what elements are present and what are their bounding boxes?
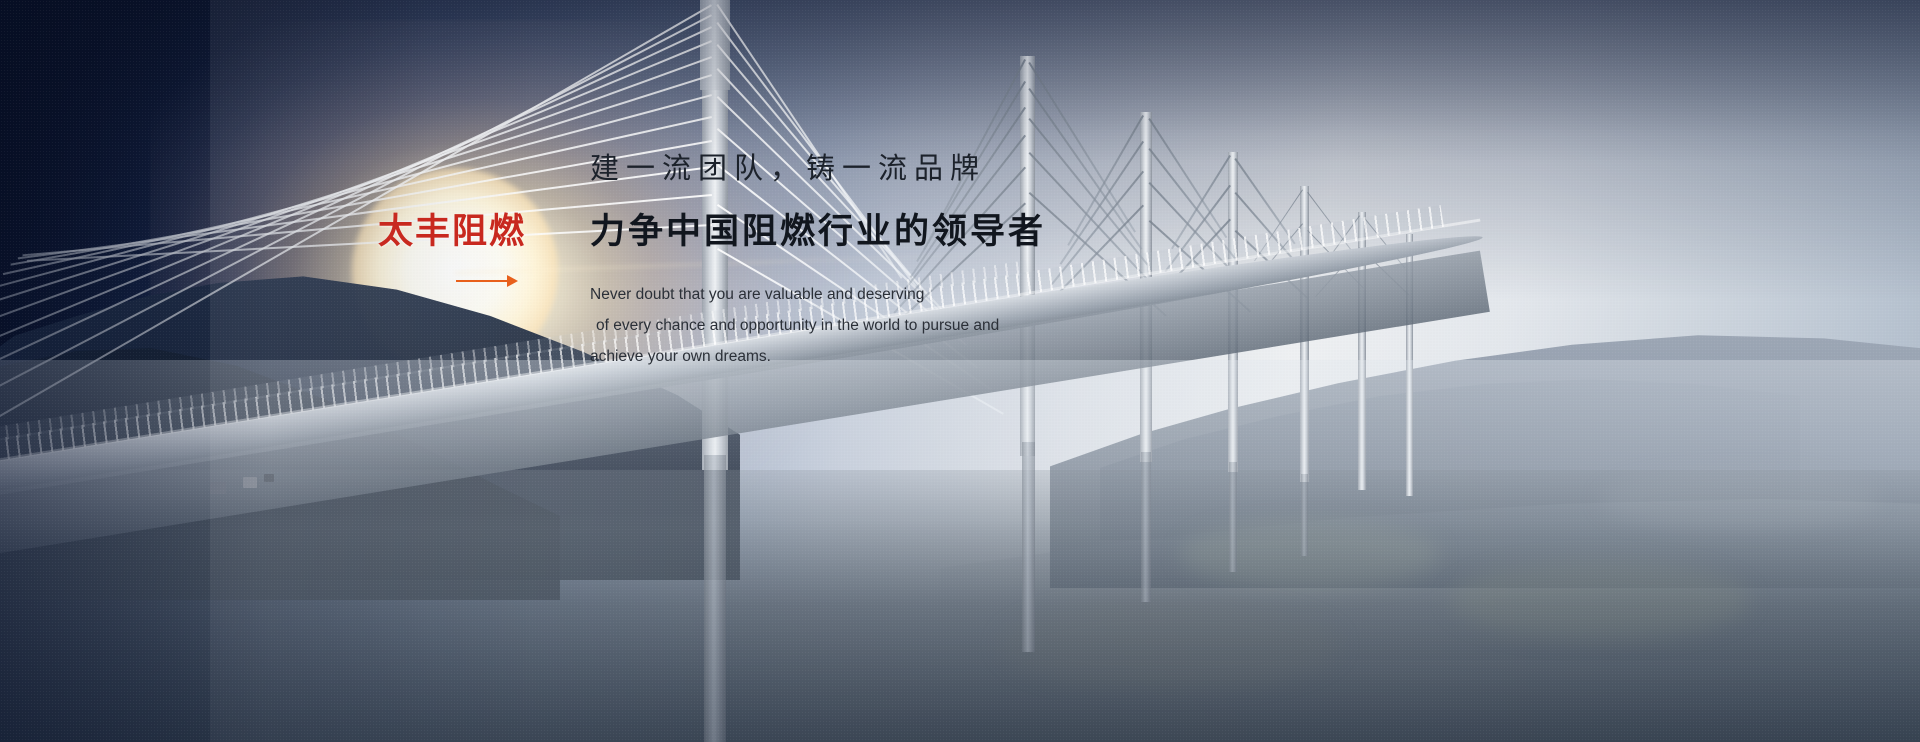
arrow-head [507, 275, 518, 287]
paragraph-line-2: of every chance and opportunity in the w… [590, 310, 1050, 341]
paragraph-line-1: Never doubt that you are valuable and de… [590, 279, 1050, 310]
hero-banner: 太丰阻燃 建一流团队，铸一流品牌 力争中国阻燃行业的领导者 Never doub… [0, 0, 1920, 742]
brand-logo[interactable]: 太丰阻燃 [378, 214, 548, 287]
headline-title: 力争中国阻燃行业的领导者 [590, 211, 1110, 253]
paragraph-line-3: achieve your own dreams. [590, 341, 1050, 372]
headline-group: 建一流团队，铸一流品牌 力争中国阻燃行业的领导者 Never doubt tha… [590, 152, 1110, 372]
headline-paragraph: Never doubt that you are valuable and de… [590, 279, 1050, 372]
arrow-right-icon [456, 275, 518, 287]
brand-name: 太丰阻燃 [378, 214, 548, 251]
headline-subtitle: 建一流团队，铸一流品牌 [590, 152, 1110, 187]
arrow-shaft [456, 280, 510, 282]
banner-content: 太丰阻燃 建一流团队，铸一流品牌 力争中国阻燃行业的领导者 Never doub… [0, 0, 1920, 742]
